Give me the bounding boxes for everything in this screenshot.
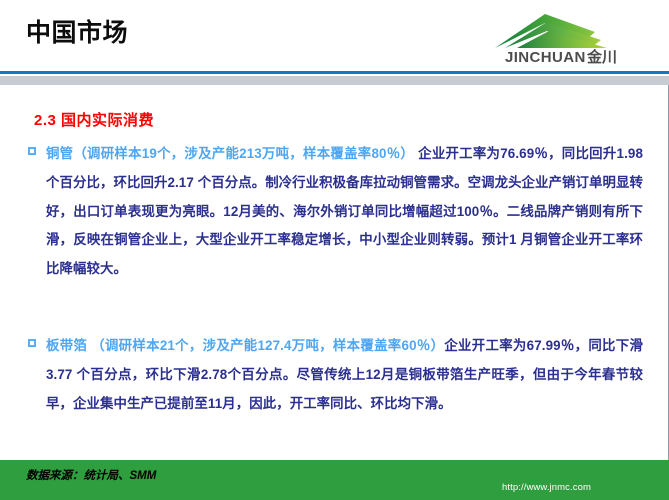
bullet-item-strip-foil: 板带箔 （调研样本21个，涉及产能127.4万吨，样本覆盖率60％）企业开工率为…	[28, 332, 643, 418]
footer-data-source: 数据来源：统计局、SMM	[26, 467, 156, 483]
bullet-lead-copper-tube: 铜管（调研样本19个，涉及产能213万吨，样本覆盖率80％）	[46, 146, 414, 161]
logo-wordmark-cjk: 金川	[586, 48, 617, 66]
bullet-text-copper-tube: 铜管（调研样本19个，涉及产能213万吨，样本覆盖率80％） 企业开工率为76.…	[46, 140, 643, 284]
bullet-body-copper-tube: 企业开工率为76.69％，同比回升1.98 个百分比，环比回升2.17 个百分点…	[46, 146, 643, 276]
footer-website-url[interactable]: http://www.jnmc.com	[502, 482, 591, 493]
logo-wordmark-latin: JINCHUAN	[505, 49, 586, 66]
slide-canvas: 中国市场	[0, 0, 669, 500]
slide-header: 中国市场	[0, 0, 669, 72]
header-divider-gray	[0, 76, 669, 85]
hollow-square-bullet-icon	[28, 339, 36, 347]
slide-content: 2.3 国内实际消费 铜管（调研样本19个，涉及产能213万吨，样本覆盖率80％…	[0, 85, 669, 460]
header-divider-blue	[0, 71, 669, 74]
hollow-square-bullet-icon	[28, 147, 36, 155]
green-mountain-mark	[495, 14, 607, 48]
section-heading: 2.3 国内实际消费	[34, 109, 154, 130]
slide-footer: 数据来源：统计局、SMM http://www.jnmc.com	[0, 460, 669, 500]
page-title: 中国市场	[26, 21, 128, 46]
bullet-text-strip-foil: 板带箔 （调研样本21个，涉及产能127.4万吨，样本覆盖率60％）企业开工率为…	[46, 332, 643, 418]
bullet-lead-strip-foil: 板带箔 （调研样本21个，涉及产能127.4万吨，样本覆盖率60％）	[46, 338, 444, 353]
logo-svg: JINCHUAN 金川	[483, 8, 651, 66]
bullet-item-copper-tube: 铜管（调研样本19个，涉及产能213万吨，样本覆盖率80％） 企业开工率为76.…	[28, 140, 643, 284]
jinchuan-logo: JINCHUAN 金川	[483, 8, 651, 66]
